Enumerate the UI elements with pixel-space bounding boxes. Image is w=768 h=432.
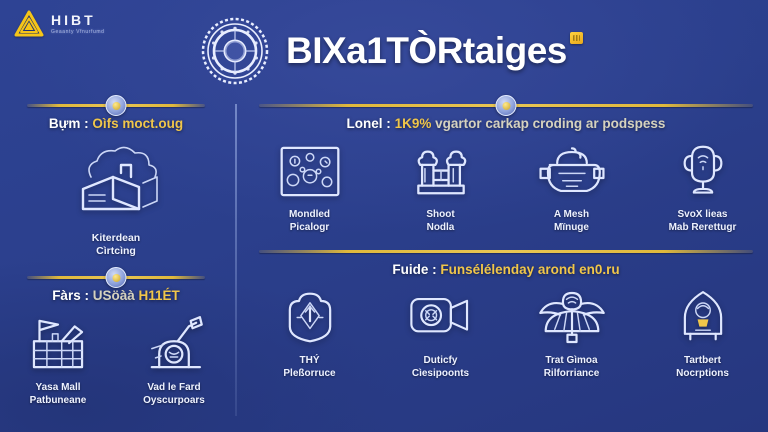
icon-card[interactable]: Yasa Mall Patbuneane bbox=[0, 313, 116, 407]
right-column: Lonel : 1K9% vgartor carkap croding ar p… bbox=[244, 100, 768, 380]
caption-line-2: Nodla bbox=[426, 222, 454, 235]
right-section-1: Lonel : 1K9% vgartor carkap croding ar p… bbox=[244, 100, 768, 234]
heading-rest: H11ÉT bbox=[139, 288, 180, 303]
circular-seal-icon bbox=[198, 14, 272, 88]
medal-badge-icon bbox=[106, 95, 127, 116]
caption-line-2: Cìesipoonts bbox=[412, 368, 469, 381]
heading-lead: Fuide : bbox=[392, 262, 436, 277]
icon-card-caption: A Mesh Mïnuge bbox=[554, 209, 589, 234]
recycle-triangle-icon bbox=[14, 10, 44, 38]
icon-card[interactable]: Vad le Fard Oyscurpoars bbox=[116, 313, 232, 407]
heading-lead: Fàrs : bbox=[52, 288, 89, 303]
icon-card[interactable]: Mondled Picalogr bbox=[251, 140, 369, 234]
twin-tower-icon bbox=[407, 140, 475, 202]
icon-card-caption: Yasa Mall Patbuneane bbox=[30, 382, 87, 407]
section-rule bbox=[259, 100, 753, 110]
heading-lead: Lonel : bbox=[347, 116, 391, 131]
icon-card-caption: Tartbert Nocrptions bbox=[676, 355, 729, 380]
medal-badge-icon bbox=[496, 95, 517, 116]
caption-line-1: Yasa Mall bbox=[30, 382, 87, 395]
caption-line-1: Shoot bbox=[426, 209, 454, 222]
caption-line-2: Patbuneane bbox=[30, 395, 87, 408]
caption-line-1: Vad le Fard bbox=[143, 382, 205, 395]
particle-grid-icon bbox=[276, 140, 344, 202]
icon-card[interactable]: THÝ Pleßorruce bbox=[251, 286, 369, 380]
right-section-1-heading: Lonel : 1K9% vgartor carkap croding ar p… bbox=[244, 116, 768, 131]
caption-line-2: Rilforriance bbox=[544, 368, 600, 381]
chart-flag-board-icon bbox=[21, 313, 95, 375]
icon-card-caption: Trat Gìmoa Rilforriance bbox=[544, 355, 600, 380]
heading-lead: Bựm : bbox=[49, 116, 89, 131]
caption-line-2: Pleßorruce bbox=[283, 368, 335, 381]
right-section-2-heading: Fuide : Funsélélenday arond en0.ru bbox=[244, 262, 768, 277]
caption-line-2: Nocrptions bbox=[676, 368, 729, 381]
right-section-2-grid: THÝ Pleßorruce bbox=[244, 286, 768, 380]
microscope-robot-icon bbox=[137, 313, 211, 375]
caption-line-1: Duticfy bbox=[412, 355, 469, 368]
icon-card-caption: Shoot Nodla bbox=[426, 209, 454, 234]
icon-card-caption: THÝ Pleßorruce bbox=[283, 355, 335, 380]
left-section-1: Bựm : Oìfs moct.oug bbox=[0, 100, 232, 258]
section-rule bbox=[27, 272, 205, 282]
winged-fan-icon bbox=[533, 286, 611, 348]
icon-card-caption: Vad le Fard Oyscurpoars bbox=[143, 382, 205, 407]
gold-ribbon-badge-icon bbox=[570, 32, 583, 44]
icon-card[interactable]: A Mesh Mïnuge bbox=[513, 140, 631, 234]
icon-card-caption: Mondled Picalogr bbox=[289, 209, 330, 234]
caption-line-1: A Mesh bbox=[554, 209, 589, 222]
caption-line-1: Trat Gìmoa bbox=[544, 355, 600, 368]
caption-line-2: Cìrtcìng bbox=[92, 245, 140, 258]
left-section-2: Fàrs : USöàà H11ÉT bbox=[0, 272, 232, 407]
arch-lantern-icon bbox=[674, 286, 732, 348]
icon-card-caption: SvoX lieas Mab Rerettugr bbox=[669, 209, 737, 234]
heading-rest: vgartor carkap croding ar podspess bbox=[435, 116, 665, 131]
camera-lens-icon bbox=[406, 286, 476, 348]
left-section-2-heading: Fàrs : USöàà H11ÉT bbox=[0, 288, 232, 303]
brand-text: HIBT Geaanty Vfnurfumd bbox=[51, 13, 105, 35]
heading-rest: Funsélélenday arond en0.ru bbox=[440, 262, 619, 277]
left-section-2-grid: Yasa Mall Patbuneane bbox=[0, 313, 232, 407]
caption-line-2: Mïnuge bbox=[554, 222, 589, 235]
brand-tagline: Geaanty Vfnurfumd bbox=[51, 30, 105, 35]
page-title: BIXa1TÒRtaiges bbox=[286, 30, 567, 72]
brand-logo: HIBT Geaanty Vfnurfumd bbox=[14, 10, 105, 38]
caption-line-1: Kiterdean bbox=[92, 232, 140, 245]
medal-badge-icon bbox=[106, 267, 127, 288]
icon-card[interactable]: Kiterdean Cìrtcìng bbox=[16, 139, 216, 258]
section-rule bbox=[259, 246, 753, 256]
heading-value: 1K9% bbox=[395, 116, 432, 131]
caption-line-1: Tartbert bbox=[676, 355, 729, 368]
shield-compass-icon bbox=[277, 286, 343, 348]
cloud-factory-icon bbox=[61, 139, 171, 225]
column-divider bbox=[235, 104, 237, 416]
right-section-2: Fuide : Funsélélenday arond en0.ru bbox=[244, 246, 768, 380]
infographic-canvas: HIBT Geaanty Vfnurfumd bbox=[0, 0, 768, 432]
page-header: BIXa1TÒRtaiges bbox=[198, 14, 567, 88]
caption-line-1: SvoX lieas bbox=[669, 209, 737, 222]
caption-line-1: THÝ bbox=[283, 355, 335, 368]
icon-card-caption: Kiterdean Cìrtcìng bbox=[92, 232, 140, 258]
caption-line-2: Picalogr bbox=[289, 222, 330, 235]
heading-mid: USöàà bbox=[93, 288, 135, 303]
brand-name: HIBT bbox=[51, 13, 105, 27]
icon-card[interactable]: Duticfy Cìesipoonts bbox=[382, 286, 500, 380]
section-rule bbox=[27, 100, 205, 110]
left-section-1-heading: Bựm : Oìfs moct.oug bbox=[0, 116, 232, 131]
caption-line-2: Mab Rerettugr bbox=[669, 222, 737, 235]
right-section-1-grid: Mondled Picalogr bbox=[244, 140, 768, 234]
caption-line-2: Oyscurpoars bbox=[143, 395, 205, 408]
left-column: Bựm : Oìfs moct.oug bbox=[0, 100, 232, 407]
icon-card-caption: Duticfy Cìesipoonts bbox=[412, 355, 469, 380]
icon-card[interactable]: Trat Gìmoa Rilforriance bbox=[513, 286, 631, 380]
page-title-wrap: BIXa1TÒRtaiges bbox=[286, 30, 567, 72]
icon-card[interactable]: Tartbert Nocrptions bbox=[644, 286, 762, 380]
caption-line-1: Mondled bbox=[289, 209, 330, 222]
left-section-1-grid: Kiterdean Cìrtcìng bbox=[0, 139, 232, 258]
signal-trophy-icon bbox=[670, 140, 736, 202]
rule-line bbox=[259, 250, 753, 253]
icon-card[interactable]: Shoot Nodla bbox=[382, 140, 500, 234]
heading-rest: Oìfs moct.oug bbox=[92, 116, 183, 131]
domed-vessel-icon bbox=[535, 140, 609, 202]
icon-card[interactable]: SvoX lieas Mab Rerettugr bbox=[644, 140, 762, 234]
